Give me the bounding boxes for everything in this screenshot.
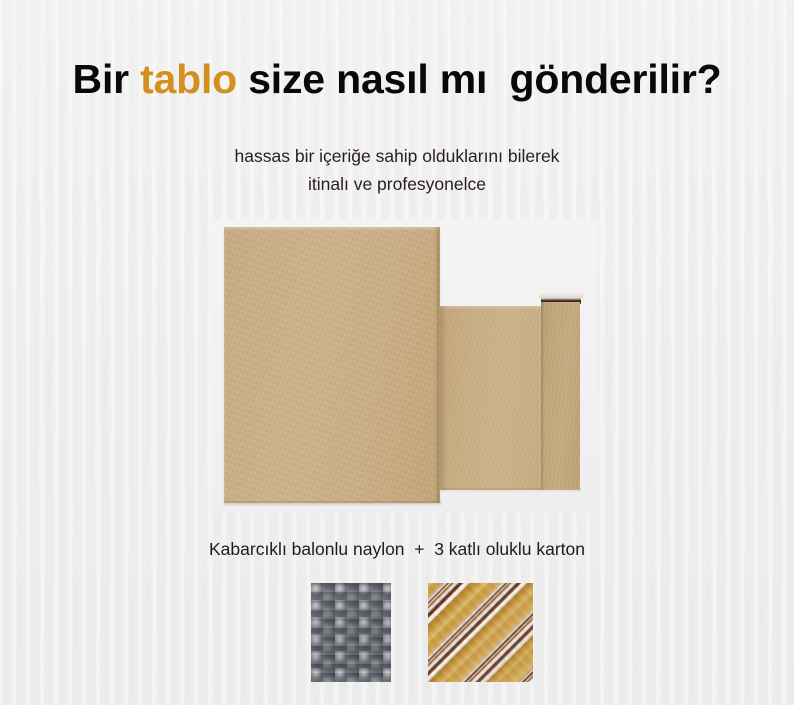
corrugated-carton-texture	[428, 583, 533, 682]
page-title-after: size nasıl mı gönderilir?	[237, 56, 721, 102]
bubble-wrap-texture	[311, 583, 391, 682]
page-title: Bir tablo size nasıl mı gönderilir?	[0, 55, 794, 103]
page-title-before: Bir	[73, 56, 141, 102]
cardboard-front-panel	[224, 227, 440, 503]
swatch-bubble-wrap	[311, 583, 391, 682]
subtitle-line-2: itinalı ve profesyonelce	[0, 170, 794, 198]
package-photo	[205, 215, 600, 515]
poster-canvas: Bir tablo size nasıl mı gönderilir? hass…	[0, 0, 794, 705]
cardboard-side-flap	[541, 302, 580, 490]
materials-caption: Kabarcıklı balonlu naylon + 3 katlı oluk…	[0, 536, 794, 562]
page-title-accent: tablo	[140, 56, 237, 102]
subtitle-line-1: hassas bir içeriğe sahip olduklarını bil…	[0, 142, 794, 170]
swatch-corrugated-carton	[428, 583, 533, 682]
front-panel-shadow	[224, 501, 442, 507]
front-panel-crease	[437, 227, 440, 503]
material-swatches	[311, 583, 533, 682]
subtitle: hassas bir içeriğe sahip olduklarını bil…	[0, 142, 794, 198]
cardboard-middle-panel	[440, 306, 541, 490]
